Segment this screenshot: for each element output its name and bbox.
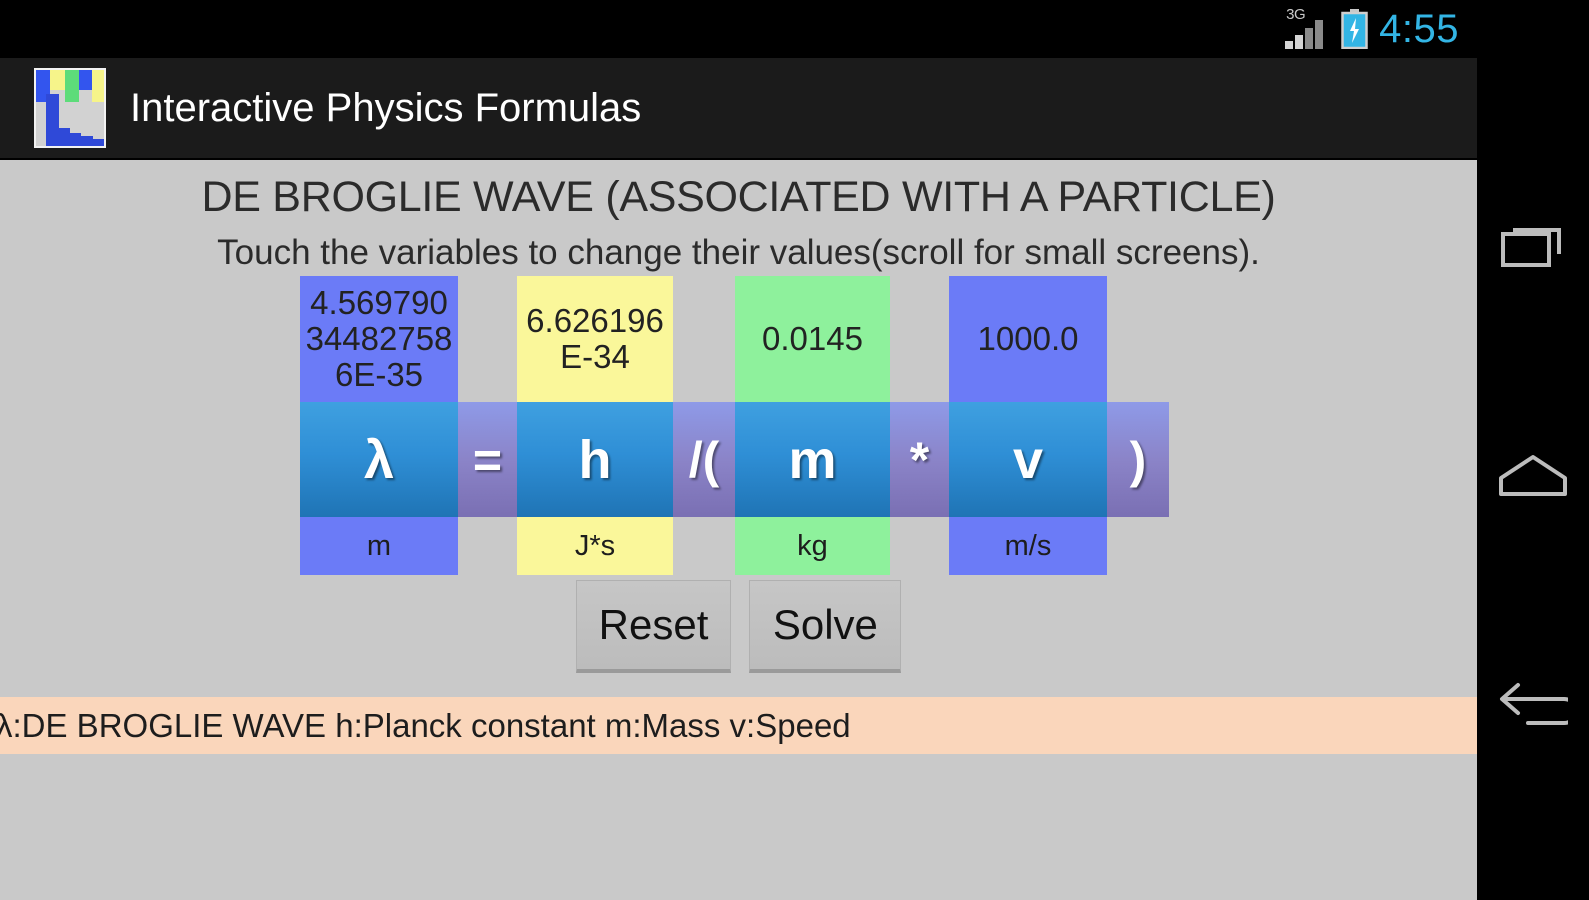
app-title: Interactive Physics Formulas	[130, 86, 641, 131]
operator-symbol: )	[1107, 402, 1169, 517]
formula-column-variable-λ[interactable]: 4.569790344827586E-35λm	[300, 276, 458, 575]
operator-value-spacer	[673, 276, 735, 402]
solve-button[interactable]: Solve	[749, 580, 901, 673]
recents-icon[interactable]	[1477, 190, 1589, 300]
variable-symbol[interactable]: m	[735, 402, 890, 517]
variable-unit: J*s	[517, 517, 673, 575]
operator-unit-spacer	[458, 517, 517, 575]
android-device-screen: 3G 4:55	[0, 0, 1589, 900]
formula-column-operator: )	[1107, 276, 1169, 575]
formula-column-variable-m[interactable]: 0.0145mkg	[735, 276, 890, 575]
back-icon[interactable]	[1477, 650, 1589, 760]
variable-unit: m/s	[949, 517, 1107, 575]
variable-value[interactable]: 4.569790344827586E-35	[300, 276, 458, 402]
signal-icon: 3G	[1284, 8, 1330, 50]
status-bar-clock: 4:55	[1379, 9, 1459, 49]
operator-unit-spacer	[1107, 517, 1169, 575]
formula-column-operator: =	[458, 276, 517, 575]
operator-unit-spacer	[673, 517, 735, 575]
formula-column-operator: *	[890, 276, 949, 575]
variable-value[interactable]: 0.0145	[735, 276, 890, 402]
status-bar-right-group: 3G 4:55	[1284, 8, 1459, 50]
home-icon[interactable]	[1477, 420, 1589, 530]
action-bar: Interactive Physics Formulas	[0, 58, 1477, 160]
action-buttons-row: Reset Solve	[0, 580, 1477, 673]
operator-unit-spacer	[890, 517, 949, 575]
variable-unit: m	[300, 517, 458, 575]
navigation-bar	[1477, 0, 1589, 900]
formula-column-variable-v[interactable]: 1000.0vm/s	[949, 276, 1107, 575]
status-bar: 3G 4:55	[0, 0, 1477, 58]
formula-column-operator: /(	[673, 276, 735, 575]
operator-symbol: *	[890, 402, 949, 517]
variable-symbol[interactable]: h	[517, 402, 673, 517]
formula-title: DE BROGLIE WAVE (ASSOCIATED WITH A PARTI…	[0, 160, 1477, 221]
legend-bar: λ:DE BROGLIE WAVE h:Planck constant m:Ma…	[0, 697, 1477, 754]
variable-value[interactable]: 6.626196E-34	[517, 276, 673, 402]
legend-text: λ:DE BROGLIE WAVE h:Planck constant m:Ma…	[0, 707, 851, 745]
operator-value-spacer	[890, 276, 949, 402]
signal-bars-icon	[1284, 17, 1330, 49]
operator-symbol: /(	[673, 402, 735, 517]
formula-screen: DE BROGLIE WAVE (ASSOCIATED WITH A PARTI…	[0, 160, 1477, 900]
reset-button[interactable]: Reset	[576, 580, 732, 673]
operator-value-spacer	[458, 276, 517, 402]
variable-symbol[interactable]: v	[949, 402, 1107, 517]
formula-grid: 4.569790344827586E-35λm=6.626196E-34hJ*s…	[300, 276, 1169, 575]
formula-column-variable-h[interactable]: 6.626196E-34hJ*s	[517, 276, 673, 575]
operator-symbol: =	[458, 402, 517, 517]
battery-charging-icon	[1341, 9, 1368, 49]
operator-value-spacer	[1107, 276, 1169, 402]
variable-value[interactable]: 1000.0	[949, 276, 1107, 402]
formula-hint: Touch the variables to change their valu…	[0, 221, 1477, 273]
variable-symbol[interactable]: λ	[300, 402, 458, 517]
variable-unit: kg	[735, 517, 890, 575]
app-chart-icon	[34, 68, 106, 148]
